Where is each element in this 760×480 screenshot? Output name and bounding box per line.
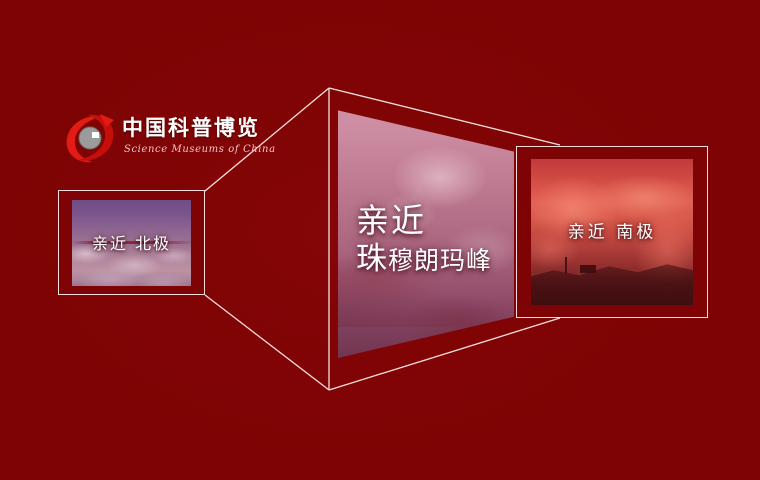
arctic-photo: 亲近 北极 (72, 200, 191, 286)
arctic-panel[interactable]: 亲近 北极 (58, 190, 205, 295)
everest-caption-line2-big: 珠 (356, 241, 388, 277)
antarctic-mast (565, 257, 567, 273)
everest-caption-line1: 亲近 (356, 204, 508, 239)
antarctic-photo: 亲近 南极 (531, 159, 693, 305)
antarctic-panel[interactable]: 亲近 南极 (516, 146, 708, 318)
slide-stage: 中国科普博览 Science Museums of China 亲近 北极 亲近… (0, 0, 760, 480)
antarctic-caption: 亲近 南极 (531, 218, 693, 243)
arctic-caption: 亲近 北极 (72, 230, 191, 254)
brand-name-cn: 中国科普博览 (122, 112, 260, 142)
everest-panel[interactable]: 亲近 珠穆朗玛峰 (338, 100, 514, 358)
brand-logo[interactable]: 中国科普博览 Science Museums of China (62, 108, 262, 170)
everest-caption: 亲近 珠穆朗玛峰 (356, 204, 508, 276)
antarctic-station-hut (580, 265, 596, 273)
eye-swirl-logo-icon (62, 110, 118, 166)
everest-caption-line2: 珠穆朗玛峰 (356, 243, 508, 276)
brand-name-en: Science Museums of China (124, 144, 276, 155)
everest-caption-line2-rest: 穆朗玛峰 (388, 246, 492, 275)
